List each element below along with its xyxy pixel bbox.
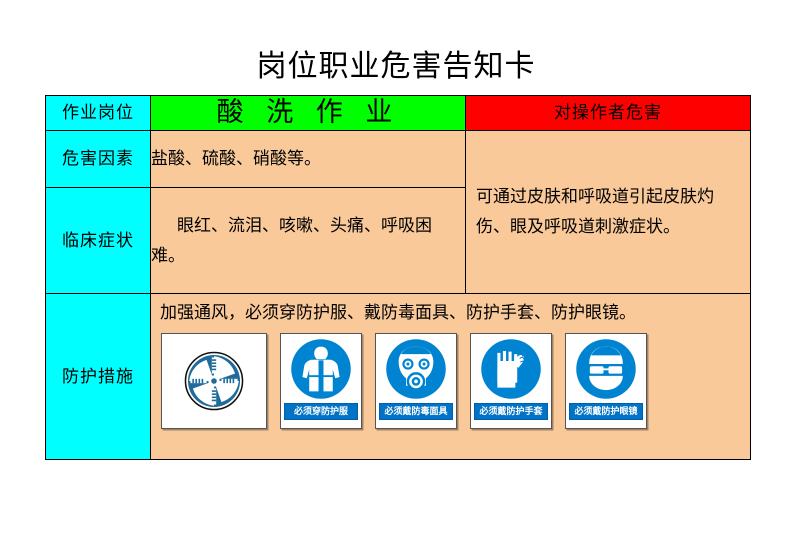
table-row-protective-measures: 防护措施 加强通风，必须穿防护服、戴防毒面具、防护手套、防护眼镜。 [46,294,751,460]
protective-gloves-sign: 必须戴防护手套 [470,333,552,429]
page-title: 岗位职业危害告知卡 [0,48,792,86]
ventilation-fan-sign [161,333,267,429]
safety-sign-strip: 必须穿防护服 [151,330,750,459]
cell-harm-to-operator-value: 可通过皮肤和呼吸道引起皮肤灼伤、眼及呼吸道刺激症状。 [466,131,751,294]
cell-job-label: 作业岗位 [46,96,151,131]
sign-caption: 必须戴防毒面具 [379,403,453,420]
cell-protective-measures-label: 防护措施 [46,294,151,460]
protective-clothing-sign: 必须穿防护服 [280,333,362,429]
cell-clinical-symptoms-label: 临床症状 [46,188,151,294]
fan-icon [183,350,245,412]
table-row-header: 作业岗位 酸 洗 作 业 对操作者危害 [46,96,751,131]
sign-caption: 必须戴防护眼镜 [569,403,643,420]
cell-hazard-factors-value: 盐酸、硫酸、硝酸等。 [151,131,466,188]
sign-caption: 必须戴防护手套 [474,403,548,420]
gas-mask-sign: 必须戴防毒面具 [375,333,457,429]
hazard-notice-card: 岗位职业危害告知卡 作业岗位 酸 洗 作 业 对操作者危害 危害因素 盐酸、硫酸… [0,0,792,555]
cell-protective-measures-value: 加强通风，必须穿防护服、戴防毒面具、防护手套、防护眼镜。 [151,294,751,460]
cell-harm-label: 对操作者危害 [466,96,751,131]
gas-mask-icon [385,338,447,400]
cell-job-value: 酸 洗 作 业 [151,96,466,131]
cell-clinical-symptoms-value: 眼红、流泪、咳嗽、头痛、呼吸困难。 [151,188,466,294]
table-row-hazard-factors: 危害因素 盐酸、硫酸、硝酸等。 可通过皮肤和呼吸道引起皮肤灼伤、眼及呼吸道刺激症… [46,131,751,188]
protective-measures-text: 加强通风，必须穿防护服、戴防毒面具、防护手套、防护眼镜。 [151,294,750,330]
hazard-table: 作业岗位 酸 洗 作 业 对操作者危害 危害因素 盐酸、硫酸、硝酸等。 可通过皮… [45,95,751,460]
protective-clothing-icon [290,338,352,400]
sign-caption: 必须穿防护服 [284,403,358,420]
cell-hazard-factors-label: 危害因素 [46,131,151,188]
gloves-icon [480,338,542,400]
protective-goggles-sign: 必须戴防护眼镜 [565,333,647,429]
goggles-icon [575,338,637,400]
